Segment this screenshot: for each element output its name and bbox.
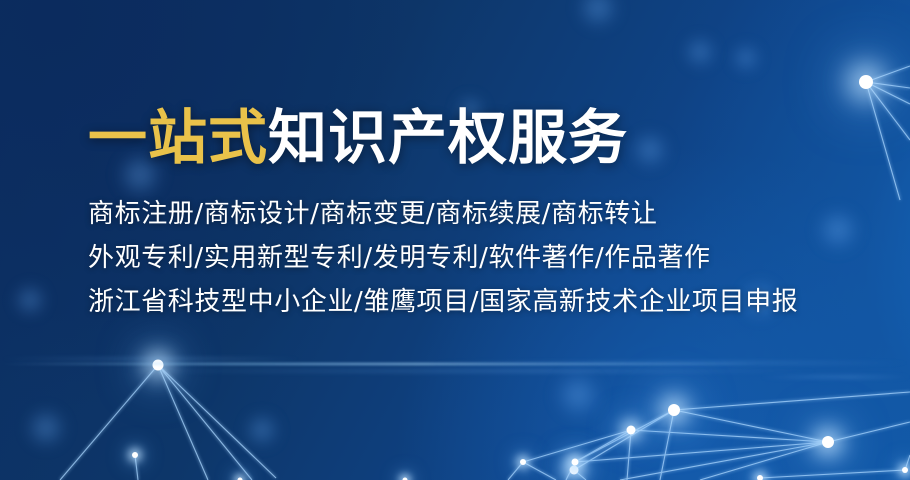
network-edge [158,365,208,480]
network-edge [660,410,674,480]
headline-highlight: 一站式 [88,103,268,172]
network-edge [620,442,828,480]
headline-rest: 知识产权服务 [268,103,628,172]
network-edge [905,455,910,470]
network-edge [508,462,523,480]
network-edge [700,442,828,480]
network-edge [575,410,674,462]
network-edge [158,365,252,480]
network-edge [866,66,910,82]
network-edge [60,365,158,480]
service-line: 外观专利/实用新型专利/发明专利/软件著作/作品著作 [88,245,848,271]
network-edge [866,82,900,200]
network-edge [866,82,910,140]
service-line: 商标注册/商标设计/商标变更/商标续展/商标转让 [88,201,848,227]
network-edge [828,422,910,442]
network-edge [135,455,138,480]
network-edge [574,470,586,480]
network-edge [575,442,828,462]
service-line: 浙江省科技型中小企业/雏鹰项目/国家高新技术企业项目申报 [88,289,848,315]
network-edge [760,470,905,478]
banner-content: 一站式知识产权服务 商标注册/商标设计/商标变更/商标续展/商标转让外观专利/实… [88,108,848,315]
page-title: 一站式知识产权服务 [88,108,848,167]
network-edge [566,462,575,480]
network-edge [674,392,910,410]
network-edge [575,430,631,462]
promo-banner: 一站式知识产权服务 商标注册/商标设计/商标变更/商标续展/商标转让外观专利/实… [0,0,910,480]
network-edge [158,365,276,478]
service-list: 商标注册/商标设计/商标变更/商标续展/商标转让外观专利/实用新型专利/发明专利… [88,201,848,315]
network-edge [523,462,556,480]
